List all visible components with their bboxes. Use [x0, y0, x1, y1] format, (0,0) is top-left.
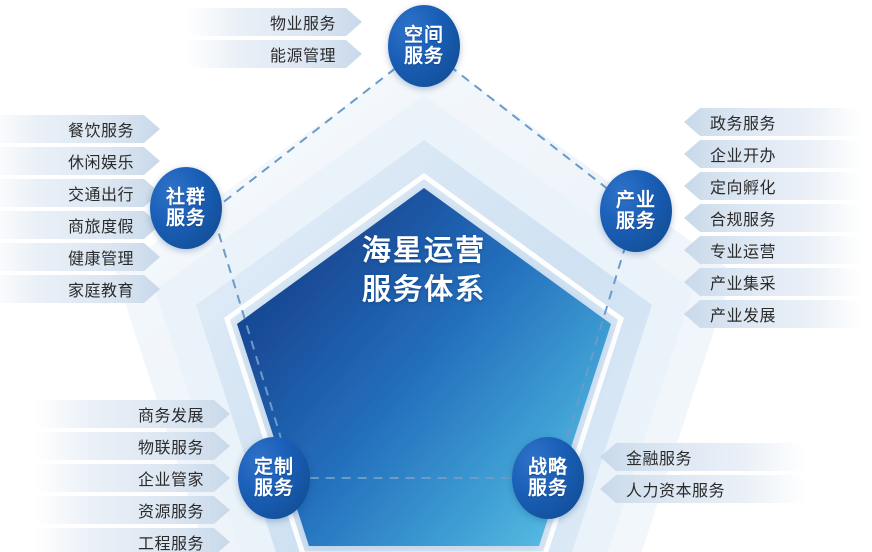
- node-kongjian[interactable]: 空间 服务: [388, 5, 460, 87]
- ribbon-group-shequn: 餐饮服务 休闲娱乐 交通出行 商旅度假 健康管理 家庭教育: [12, 115, 160, 307]
- ribbon-item[interactable]: 能源管理: [186, 40, 362, 68]
- ribbon-item[interactable]: 物业服务: [186, 8, 362, 36]
- ribbon-label: 产业集采: [710, 270, 776, 294]
- ribbon-item[interactable]: 产业发展: [684, 300, 862, 328]
- ribbon-group-kongjian: 物业服务 能源管理: [212, 8, 362, 72]
- ribbon-item[interactable]: 资源服务: [34, 496, 230, 524]
- ribbon-group-chanye: 政务服务 企业开办 定向孵化 合规服务 专业运营 产业集采 产业发展: [684, 108, 836, 332]
- node-dingzhi-line-1: 定制: [254, 457, 294, 478]
- ribbon-label: 政务服务: [710, 110, 776, 134]
- ribbon-item[interactable]: 企业管家: [34, 464, 230, 492]
- ribbon-label: 健康管理: [68, 245, 134, 269]
- ribbon-item[interactable]: 政务服务: [684, 108, 862, 136]
- node-dingzhi-line-2: 服务: [254, 478, 294, 499]
- ribbon-item[interactable]: 物联服务: [34, 432, 230, 460]
- ribbon-item[interactable]: 商旅度假: [0, 211, 160, 239]
- ribbon-item[interactable]: 家庭教育: [0, 275, 160, 303]
- node-chanye[interactable]: 产业 服务: [600, 170, 672, 252]
- node-shequn-line-2: 服务: [166, 208, 206, 229]
- ribbon-label: 物联服务: [138, 434, 204, 458]
- ribbon-label: 家庭教育: [68, 277, 134, 301]
- ribbon-item[interactable]: 金融服务: [600, 443, 806, 471]
- ribbon-item[interactable]: 专业运营: [684, 236, 862, 264]
- diagram-canvas: 海星运营 服务体系 空间 服务 产业 服务 战略 服务 定制 服务 社群 服务 …: [0, 0, 872, 552]
- ribbon-label: 企业开办: [710, 142, 776, 166]
- node-zhanlue[interactable]: 战略 服务: [512, 437, 584, 519]
- node-chanye-line-1: 产业: [616, 190, 656, 211]
- ribbon-item[interactable]: 合规服务: [684, 204, 862, 232]
- node-kongjian-line-2: 服务: [404, 46, 444, 67]
- ribbon-group-dingzhi: 商务发展 物联服务 企业管家 资源服务 工程服务: [60, 400, 230, 552]
- ribbon-label: 能源管理: [270, 42, 336, 66]
- node-shequn-line-1: 社群: [166, 187, 206, 208]
- ribbon-label: 商旅度假: [68, 213, 134, 237]
- ribbon-label: 定向孵化: [710, 174, 776, 198]
- ribbon-item[interactable]: 商务发展: [34, 400, 230, 428]
- node-zhanlue-line-1: 战略: [528, 457, 568, 478]
- ribbon-label: 交通出行: [68, 181, 134, 205]
- ribbon-label: 餐饮服务: [68, 117, 134, 141]
- ribbon-label: 产业发展: [710, 302, 776, 326]
- node-dingzhi[interactable]: 定制 服务: [238, 437, 310, 519]
- ribbon-group-zhanlue: 金融服务 人力资本服务: [600, 443, 780, 507]
- ribbon-label: 物业服务: [270, 10, 336, 34]
- ribbon-label: 工程服务: [138, 530, 204, 552]
- ribbon-item[interactable]: 企业开办: [684, 140, 862, 168]
- ribbon-item[interactable]: 健康管理: [0, 243, 160, 271]
- ribbon-label: 资源服务: [138, 498, 204, 522]
- ribbon-label: 企业管家: [138, 466, 204, 490]
- ribbon-item[interactable]: 人力资本服务: [600, 475, 806, 503]
- ribbon-label: 商务发展: [138, 402, 204, 426]
- node-zhanlue-line-2: 服务: [528, 478, 568, 499]
- ribbon-item[interactable]: 产业集采: [684, 268, 862, 296]
- ribbon-item[interactable]: 定向孵化: [684, 172, 862, 200]
- ribbon-label: 金融服务: [626, 445, 692, 469]
- ribbon-label: 休闲娱乐: [68, 149, 134, 173]
- ribbon-item[interactable]: 交通出行: [0, 179, 160, 207]
- node-kongjian-line-1: 空间: [404, 25, 444, 46]
- node-chanye-line-2: 服务: [616, 211, 656, 232]
- ribbon-label: 人力资本服务: [626, 477, 725, 501]
- ribbon-item[interactable]: 餐饮服务: [0, 115, 160, 143]
- node-shequn[interactable]: 社群 服务: [150, 167, 222, 249]
- ribbon-label: 专业运营: [710, 238, 776, 262]
- ribbon-label: 合规服务: [710, 206, 776, 230]
- ribbon-item[interactable]: 工程服务: [34, 528, 230, 552]
- ribbon-item[interactable]: 休闲娱乐: [0, 147, 160, 175]
